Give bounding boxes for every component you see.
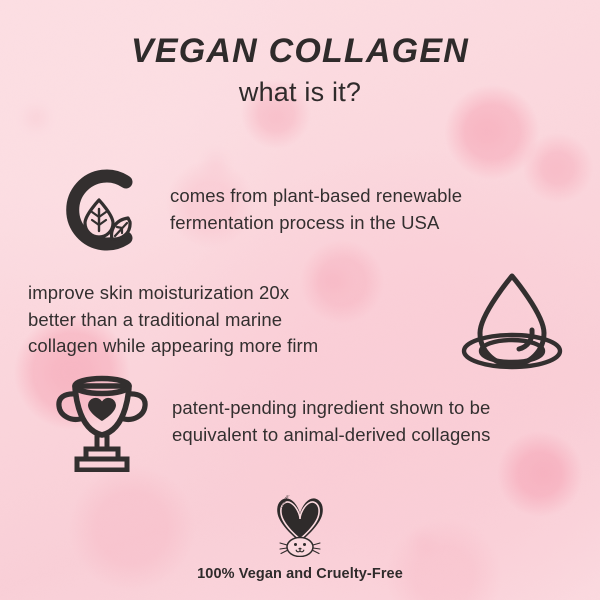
feature-text-plant-based: comes from plant-based renewable ferment… [170, 183, 462, 237]
footer-badge: LEAPING 100% Vegan and Cruelty-Free [0, 495, 600, 582]
water-droplet-ripple-icon [456, 268, 568, 372]
page-subtitle: what is it? [0, 78, 600, 108]
trophy-heart-icon [50, 372, 154, 472]
feature-text-moisturization: improve skin moisturization 20x better t… [28, 280, 318, 360]
feature-row-moisturization: improve skin moisturization 20x better t… [28, 268, 568, 372]
header: VEGAN COLLAGEN what is it? [0, 34, 600, 107]
letter-c-plant-droplet-icon [52, 160, 152, 260]
cruelty-free-bunny-icon: LEAPING [257, 495, 343, 557]
page-title: VEGAN COLLAGEN [0, 34, 600, 70]
feature-row-patent-pending: patent-pending ingredient shown to be eq… [50, 372, 580, 472]
poster-canvas: VEGAN COLLAGEN what is it? comes from pl… [0, 0, 600, 600]
feature-row-plant-based: comes from plant-based renewable ferment… [52, 160, 572, 260]
feature-text-patent-pending: patent-pending ingredient shown to be eq… [172, 395, 491, 449]
cruelty-free-label: 100% Vegan and Cruelty-Free [0, 566, 600, 582]
